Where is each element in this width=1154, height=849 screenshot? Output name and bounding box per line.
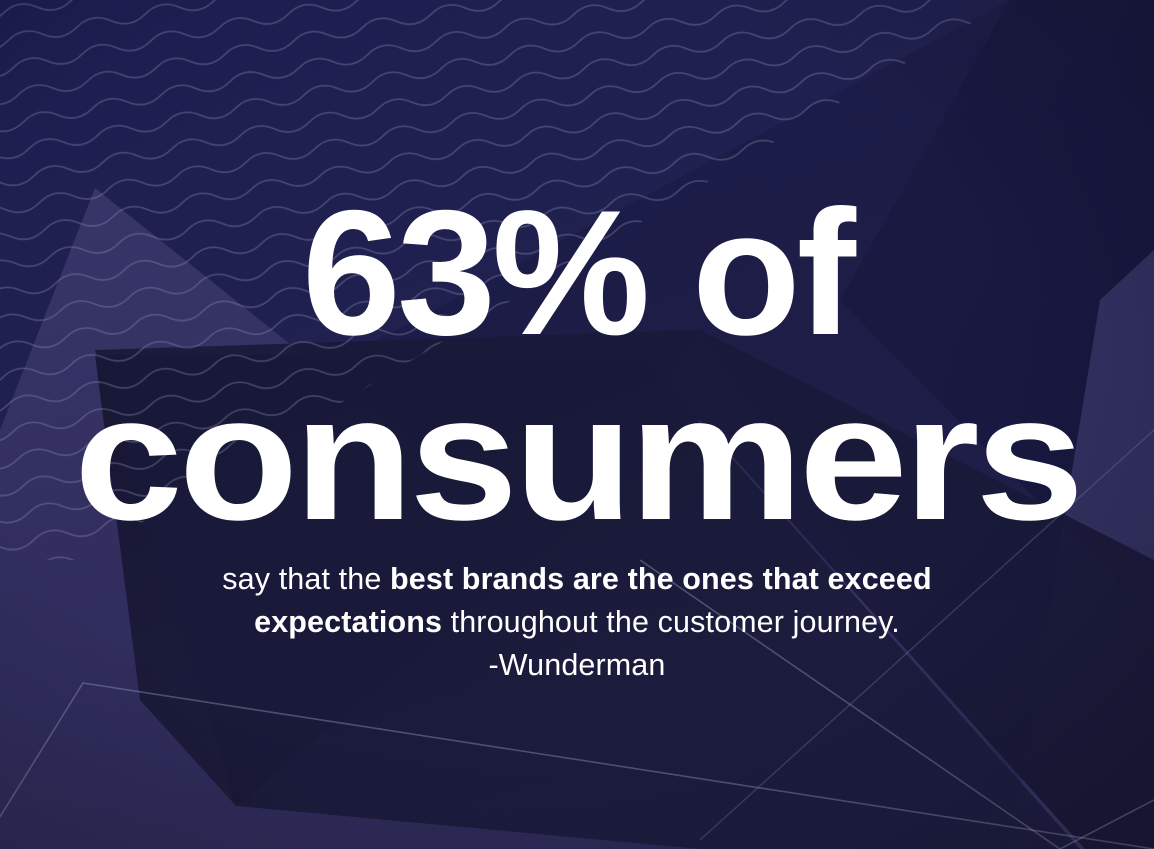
headline-subject: consumers	[0, 371, 1154, 545]
subtitle-part-2: throughout the customer journey.	[442, 605, 900, 639]
attribution-source: -Wunderman	[172, 644, 982, 687]
subtitle-block: say that the best brands are the ones th…	[172, 558, 982, 687]
poster-content: 63% of consumers say that the best brand…	[0, 0, 1154, 849]
stat-poster: 63% of consumers say that the best brand…	[0, 0, 1154, 849]
subtitle-part-1: say that the	[222, 562, 390, 596]
headline-statistic: 63% of	[0, 186, 1154, 360]
